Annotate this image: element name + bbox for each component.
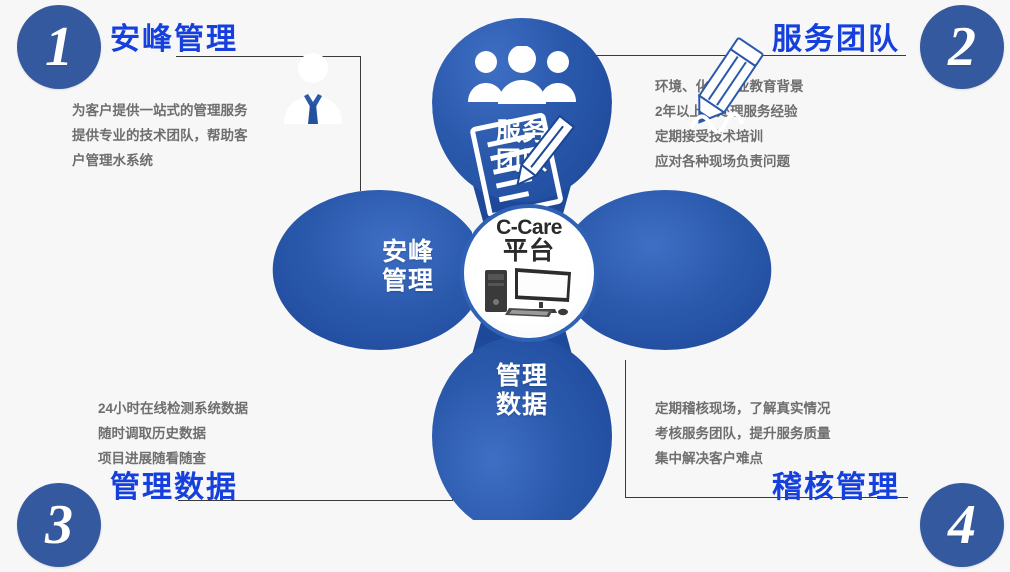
petal-anfeng-management-label: 安峰 管理	[356, 238, 460, 296]
petal-management-data[interactable]: 管理 数据	[432, 320, 612, 520]
section-body-3-line: 项目进展随看随查	[98, 446, 248, 471]
number-badge-4: 4	[920, 483, 1004, 567]
number-badge-3: 3	[17, 483, 101, 567]
number-badge-3-value: 3	[45, 497, 73, 553]
number-badge-1-value: 1	[45, 19, 73, 75]
center-hub-title-en: C-Care	[496, 217, 562, 238]
section-body-1: 为客户提供一站式的管理服务 提供专业的技术团队，帮助客 户管理水系统	[72, 98, 248, 173]
flower-diagram: 服务 团队 管理 数据	[252, 8, 792, 528]
clipboard-pen-icon	[468, 108, 578, 216]
petal-audit-management-label: 稽核 管理	[906, 238, 1010, 296]
section-body-1-line: 提供专业的技术团队，帮助客	[72, 123, 248, 148]
number-badge-4-value: 4	[948, 497, 976, 553]
section-body-3: 24小时在线检测系统数据 随时调取历史数据 项目进展随看随查	[98, 396, 248, 471]
section-body-1-line: 户管理水系统	[72, 148, 248, 173]
group-of-people-icon	[464, 46, 580, 106]
section-body-3-line: 24小时在线检测系统数据	[98, 396, 248, 421]
number-badge-2: 2	[920, 5, 1004, 89]
petal-management-data-label: 管理 数据	[432, 362, 612, 420]
number-badge-1: 1	[17, 5, 101, 89]
desktop-computer-icon	[483, 266, 575, 318]
petal-anfeng-management[interactable]: 安峰 管理	[260, 190, 472, 350]
number-badge-2-value: 2	[948, 19, 976, 75]
section-body-3-line: 随时调取历史数据	[98, 421, 248, 446]
section-body-1-line: 为客户提供一站式的管理服务	[72, 98, 248, 123]
center-hub-title-cn: 平台	[503, 239, 555, 264]
pencil-signature-icon	[686, 36, 772, 140]
section-title-3: 管理数据	[110, 473, 238, 503]
section-title-1: 安峰管理	[110, 25, 238, 55]
businessman-icon	[274, 52, 352, 126]
infographic-canvas: 1 2 3 4 安峰管理 服务团队 管理数据 稽核管理 为客户提供一站式的管理服…	[0, 0, 1010, 572]
center-hub[interactable]: C-Care 平台	[460, 204, 598, 342]
petal-audit-management[interactable]: 稽核 管理	[572, 190, 784, 350]
